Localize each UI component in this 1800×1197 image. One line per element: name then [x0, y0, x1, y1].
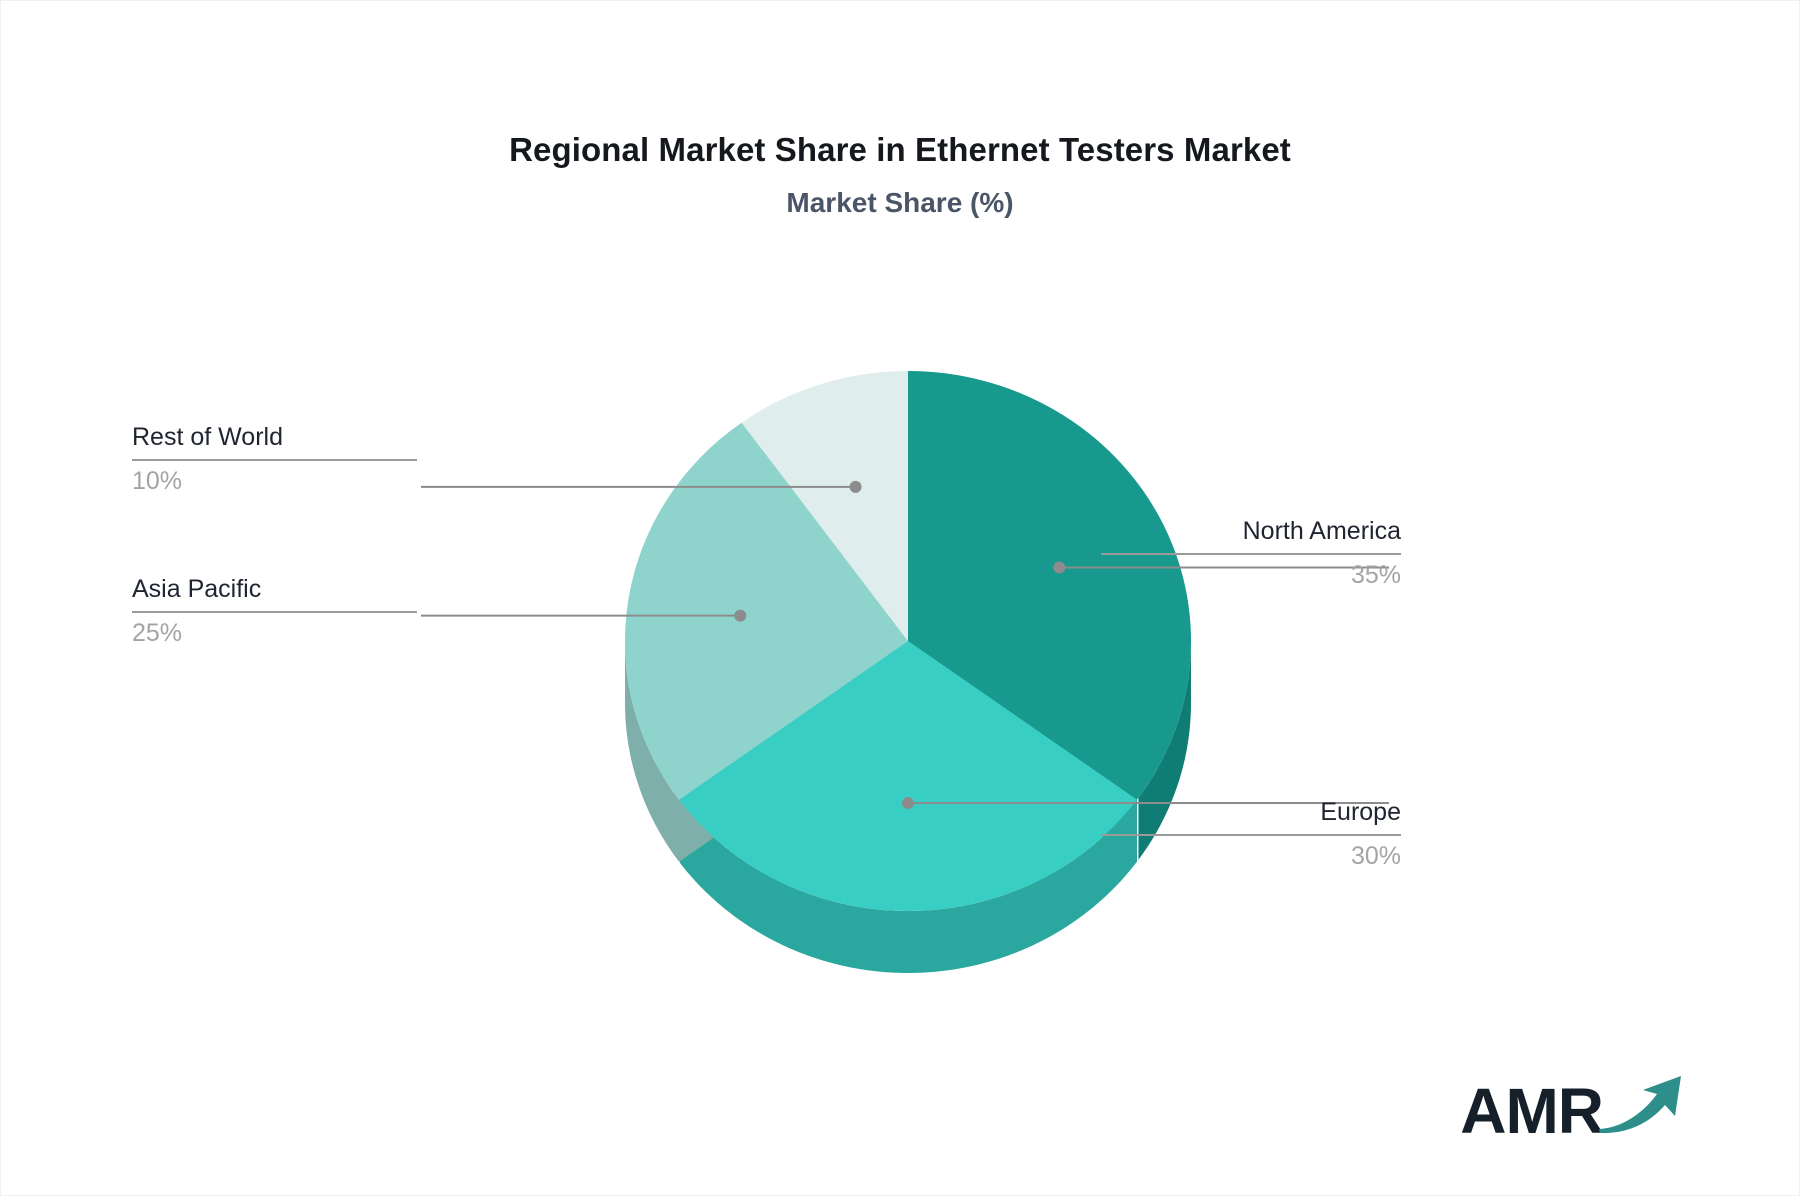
callout-asia-pacific: Asia Pacific 25% [132, 575, 417, 648]
callout-rule [132, 611, 417, 613]
callout-value-rest-of-world: 10% [132, 467, 417, 496]
callout-label-europe: Europe [1101, 798, 1401, 827]
callout-label-rest-of-world: Rest of World [132, 423, 417, 452]
callout-europe: Europe 30% [1101, 798, 1401, 871]
callout-value-europe: 30% [1101, 842, 1401, 871]
leader-dot-asia-pacific [734, 610, 746, 622]
callout-rest-of-world: Rest of World 10% [132, 423, 417, 496]
callout-value-asia-pacific: 25% [132, 619, 417, 648]
amr-wordmark: AMR [1460, 1079, 1603, 1143]
callout-rule [1101, 553, 1401, 555]
callout-rule [1101, 834, 1401, 836]
amr-logo: AMR [1460, 1072, 1689, 1143]
callout-north-america: North America 35% [1101, 517, 1401, 590]
chart-canvas: Regional Market Share in Ethernet Tester… [0, 0, 1800, 1196]
leader-dot-europe [902, 797, 914, 809]
leader-dot-north-america [1053, 561, 1065, 573]
leader-dot-rest-of-world [850, 481, 862, 493]
callout-rule [132, 459, 417, 461]
growth-arrow-icon [1597, 1072, 1689, 1139]
callout-label-asia-pacific: Asia Pacific [132, 575, 417, 604]
callout-label-north-america: North America [1101, 517, 1401, 546]
callout-value-north-america: 35% [1101, 561, 1401, 590]
